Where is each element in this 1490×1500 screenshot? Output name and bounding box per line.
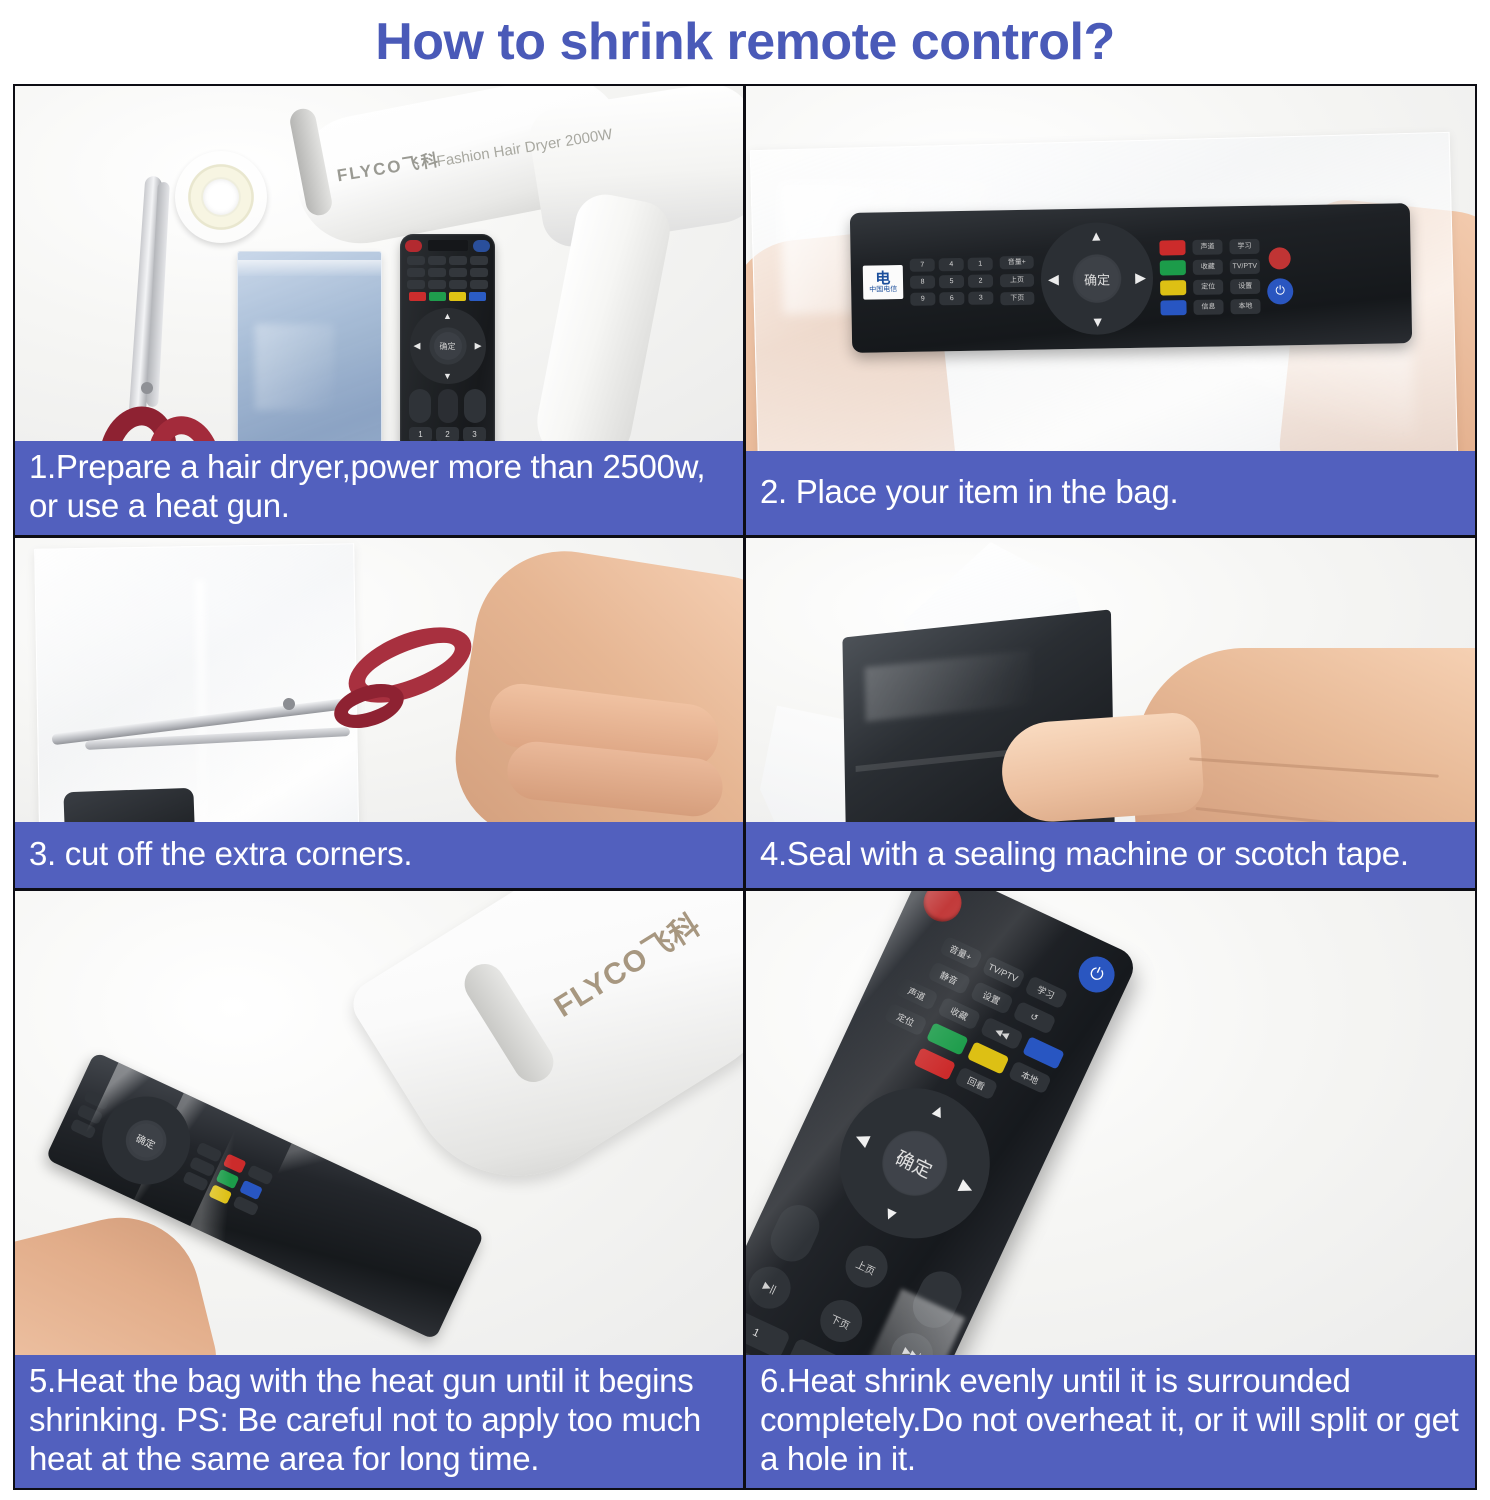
number-key: 1 bbox=[409, 427, 432, 441]
dpad-down-arrow-icon: ▼ bbox=[443, 371, 452, 381]
power-button-red-icon bbox=[405, 240, 422, 252]
remote-control-horizontal: 电 中国电信 7 4 1 8 5 2 bbox=[850, 203, 1412, 353]
function-button bbox=[407, 280, 425, 289]
number-key: 9 bbox=[910, 292, 935, 305]
color-button-yellow-icon bbox=[1160, 280, 1186, 295]
dpad-left-arrow-icon: ◀ bbox=[852, 1127, 872, 1151]
number-pad: 7 4 1 8 5 2 9 6 3 bbox=[910, 257, 994, 305]
color-button-yellow-icon bbox=[209, 1184, 233, 1204]
function-row-3 bbox=[405, 280, 490, 289]
title-bar: How to shrink remote control? bbox=[0, 0, 1490, 84]
dpad-right-arrow-icon: ▶ bbox=[1135, 269, 1146, 286]
function-button: 回看 bbox=[954, 1066, 998, 1100]
function-button bbox=[470, 256, 488, 265]
number-key: 6 bbox=[939, 291, 964, 304]
step-5-caption: 5.Heat the bag with the heat gun until i… bbox=[15, 1355, 743, 1488]
function-button: 本地 bbox=[1230, 298, 1260, 314]
step-5-cell: FLYCO飞科 确定 bbox=[13, 890, 745, 1490]
function-button: 设置 bbox=[1230, 278, 1260, 294]
remote-label-strip bbox=[428, 240, 468, 251]
function-button: 收藏 bbox=[937, 997, 981, 1031]
step-4-cell: 4.Seal with a sealing machine or scotch … bbox=[745, 537, 1477, 890]
number-key: 3 bbox=[968, 291, 993, 304]
dpad-up-arrow-icon: ▲ bbox=[1089, 227, 1103, 243]
volume-rocker bbox=[764, 1198, 827, 1268]
function-button bbox=[470, 268, 488, 277]
telecom-logo-icon: 电 bbox=[875, 271, 890, 286]
repeat-button: ↺ bbox=[1012, 1001, 1056, 1035]
ok-button: 确定 bbox=[873, 1122, 955, 1204]
function-button bbox=[449, 280, 467, 289]
dpad-up-arrow-icon: ▲ bbox=[443, 311, 452, 321]
dpad: ▲ ▼ ◀ ▶ 确定 bbox=[410, 308, 486, 384]
dpad-down-arrow-icon: ▼ bbox=[1091, 313, 1105, 329]
step-3-caption: 3. cut off the extra corners. bbox=[15, 822, 743, 888]
step-4-caption: 4.Seal with a sealing machine or scotch … bbox=[746, 822, 1475, 888]
color-button-red-icon bbox=[223, 1153, 247, 1173]
hand-thumb bbox=[999, 711, 1205, 822]
telecom-name-cn: 中国电信 bbox=[869, 286, 897, 294]
steps-grid: FLYCO飞科 Fashion Hair Dryer 2000W bbox=[13, 84, 1477, 1490]
power-button-red-icon bbox=[917, 891, 967, 928]
remote-power-row bbox=[405, 240, 490, 252]
function-button bbox=[407, 268, 425, 277]
color-button-blue-icon bbox=[239, 1179, 263, 1199]
color-button-row bbox=[405, 292, 490, 301]
color-button-blue-icon bbox=[1160, 300, 1186, 315]
function-button bbox=[407, 256, 425, 265]
function-button bbox=[428, 256, 446, 265]
function-row-2 bbox=[405, 268, 490, 277]
number-key: 2 bbox=[436, 427, 459, 441]
step-5-photo: FLYCO飞科 确定 bbox=[15, 891, 743, 1355]
function-button: 学习 bbox=[1229, 238, 1259, 254]
step-6-cell: ⏻ 音量+ TV/PTV 学习 静音 设置 ↺ 声道 收藏 bbox=[745, 890, 1477, 1490]
dpad: ▲ ▼ ◀ ▶ 确定 bbox=[1040, 222, 1154, 336]
dpad-left-arrow-icon: ◀ bbox=[414, 341, 421, 352]
color-button-green-icon bbox=[429, 292, 446, 301]
function-row-1 bbox=[405, 256, 490, 265]
function-button: 学习 bbox=[1024, 975, 1068, 1009]
volume-rocker bbox=[409, 389, 431, 423]
channel-rocker bbox=[464, 389, 486, 423]
function-button: TV/PTV bbox=[1230, 258, 1260, 274]
bagged-item bbox=[34, 543, 360, 822]
volume-channel-row bbox=[405, 389, 490, 423]
function-button: 声道 bbox=[894, 977, 938, 1011]
number-key: 3 bbox=[463, 427, 486, 441]
color-button-green-icon bbox=[1160, 260, 1186, 275]
function-button: 定位 bbox=[884, 1002, 928, 1036]
dpad-up-arrow-icon: ▲ bbox=[927, 1099, 951, 1124]
tape-roll bbox=[175, 151, 267, 243]
scissors-pivot-screw bbox=[141, 382, 153, 394]
rewind-button: ◀◀ bbox=[980, 1016, 1024, 1050]
page-up-button: 上页 bbox=[1000, 273, 1034, 287]
step-2-caption: 2. Place your item in the bag. bbox=[746, 451, 1475, 535]
number-row: 8 5 2 bbox=[910, 274, 993, 288]
function-button: TV/PTV bbox=[981, 955, 1025, 989]
function-button bbox=[470, 280, 488, 289]
step-1-cell: FLYCO飞科 Fashion Hair Dryer 2000W bbox=[13, 84, 745, 537]
color-button-group bbox=[1159, 240, 1186, 315]
step-2-photo: 电 中国电信 7 4 1 8 5 2 bbox=[746, 86, 1475, 451]
function-button: 声道 bbox=[1192, 239, 1222, 255]
step-1-caption: 1.Prepare a hair dryer,power more than 2… bbox=[15, 441, 743, 535]
china-telecom-sticker: 电 中国电信 bbox=[863, 265, 904, 300]
page-down-button: 下页 bbox=[813, 1293, 869, 1349]
number-key: 1 bbox=[968, 257, 993, 270]
number-key: 7 bbox=[910, 258, 935, 271]
color-button-green-icon bbox=[926, 1022, 968, 1055]
color-button-blue-icon bbox=[469, 292, 486, 301]
step-4-photo bbox=[746, 538, 1475, 822]
ok-button: 确定 bbox=[434, 332, 462, 360]
function-button-group: 声道 收藏 定位 信息 bbox=[1192, 239, 1223, 315]
power-button-blue-icon: ⏻ bbox=[1267, 278, 1293, 304]
dpad-right-arrow-icon: ▶ bbox=[956, 1176, 976, 1200]
power-button-blue-icon: ⏻ bbox=[1073, 951, 1121, 999]
nav-button-group: 音量+ 上页 下页 bbox=[1000, 255, 1035, 305]
color-button-red-icon bbox=[1159, 240, 1185, 255]
function-button: 本地 bbox=[1008, 1060, 1052, 1094]
page-buttons bbox=[438, 389, 458, 423]
step-1-photo: FLYCO飞科 Fashion Hair Dryer 2000W bbox=[15, 86, 743, 441]
setting-button-group: 学习 TV/PTV 设置 本地 bbox=[1229, 238, 1260, 314]
dpad-left-arrow-icon: ◀ bbox=[1048, 271, 1059, 288]
step-3-cell: 电 3. cut off the extra corners. bbox=[13, 537, 745, 890]
remote-inside-bag bbox=[63, 788, 196, 822]
function-button bbox=[449, 256, 467, 265]
page-title: How to shrink remote control? bbox=[375, 12, 1115, 72]
power-button-blue-icon bbox=[473, 240, 490, 252]
function-button bbox=[449, 268, 467, 277]
number-row: 9 6 3 bbox=[910, 291, 993, 305]
color-button-yellow-icon bbox=[967, 1041, 1009, 1074]
power-button-column: ⏻ bbox=[1266, 247, 1293, 304]
function-button: 静音 bbox=[927, 961, 971, 995]
shrink-bag bbox=[237, 251, 382, 441]
number-key: 5 bbox=[939, 274, 964, 287]
function-button: 音量+ bbox=[939, 935, 983, 969]
color-button-red-icon bbox=[409, 292, 426, 301]
infographic-root: How to shrink remote control? FLYCO飞科 Fa… bbox=[0, 0, 1490, 1500]
step-6-caption: 6.Heat shrink evenly until it is surroun… bbox=[746, 1355, 1475, 1488]
number-key: 4 bbox=[939, 257, 964, 270]
function-button: 定位 bbox=[1193, 279, 1223, 295]
page-up-button: 上页 bbox=[838, 1239, 894, 1295]
number-key: 8 bbox=[910, 275, 935, 288]
remote-control-vertical: ▲ ▼ ◀ ▶ 确定 1 2 3 bbox=[400, 234, 495, 441]
ok-button: 确定 bbox=[1075, 256, 1120, 301]
number-row: 7 4 1 bbox=[910, 257, 993, 271]
number-row-1: 1 2 3 bbox=[405, 427, 490, 441]
page-down-button: 下页 bbox=[1000, 291, 1034, 305]
step-3-photo: 电 bbox=[15, 538, 743, 822]
number-key: 2 bbox=[968, 274, 993, 287]
function-button: 音量+ bbox=[1000, 255, 1034, 269]
color-button-red-icon bbox=[913, 1047, 955, 1080]
color-button-green-icon bbox=[216, 1168, 240, 1188]
function-button bbox=[428, 268, 446, 277]
step-2-cell: 电 中国电信 7 4 1 8 5 2 bbox=[745, 84, 1477, 537]
color-button-yellow-icon bbox=[449, 292, 466, 301]
function-button: 设置 bbox=[969, 981, 1013, 1015]
power-button-red-icon bbox=[1268, 247, 1290, 269]
dpad-right-arrow-icon: ▶ bbox=[475, 341, 482, 352]
color-button-blue-icon bbox=[1022, 1036, 1064, 1069]
function-button: 收藏 bbox=[1193, 259, 1223, 275]
step-6-photo: ⏻ 音量+ TV/PTV 学习 静音 设置 ↺ 声道 收藏 bbox=[746, 891, 1475, 1355]
function-button: 信息 bbox=[1193, 299, 1223, 315]
dpad-down-arrow-icon: ▼ bbox=[878, 1202, 902, 1227]
play-pause-button: ▶|| bbox=[746, 1260, 798, 1316]
function-button bbox=[428, 280, 446, 289]
ok-button: 确定 bbox=[124, 1118, 169, 1163]
